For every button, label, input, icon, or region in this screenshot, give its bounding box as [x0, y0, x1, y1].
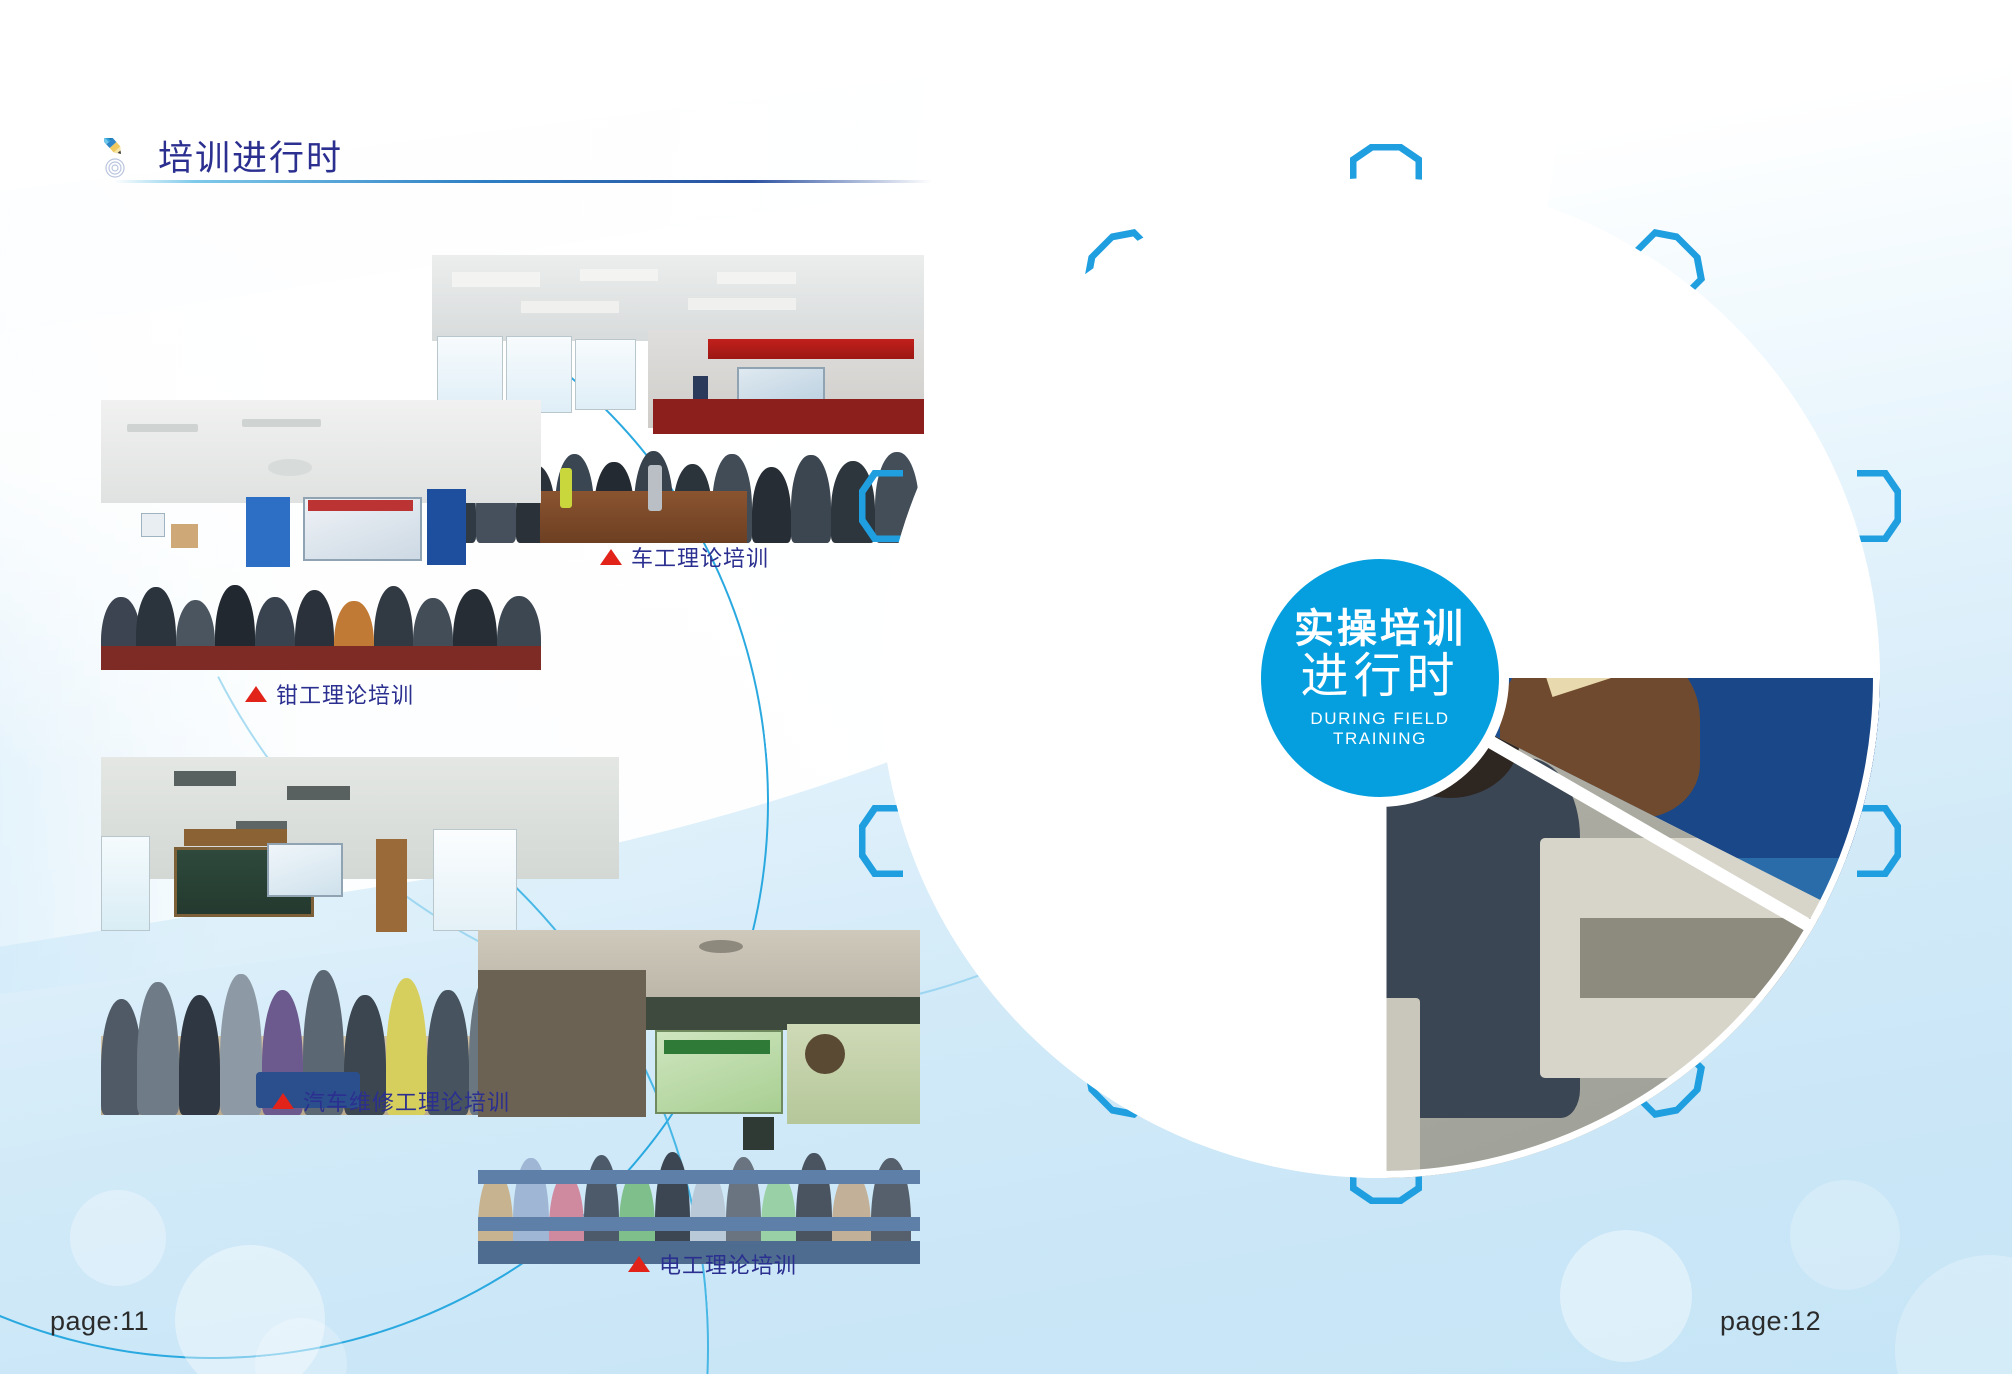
page-number-right: page:12	[1720, 1306, 1821, 1337]
triangle-marker-icon	[600, 549, 622, 565]
caption-auto-repair-theory: 汽车维修工理论培训	[272, 1085, 510, 1117]
caption-text: 电工理论培训	[659, 1248, 797, 1280]
field-training-wheel: 实操培训 进行时 DURING FIELD TRAINING	[880, 178, 1880, 1178]
caption-text: 汽车维修工理论培训	[303, 1085, 510, 1117]
photo-electrician-theory-classroom	[478, 930, 920, 1264]
bracket-icon	[859, 470, 905, 542]
page-number-left: page:11	[50, 1306, 149, 1337]
bracket-icon	[859, 805, 905, 877]
hub-line-3: DURING FIELD TRAINING	[1261, 709, 1499, 749]
triangle-marker-icon	[628, 1256, 650, 1272]
wheel-hub: 实操培训 进行时 DURING FIELD TRAINING	[1251, 549, 1509, 807]
hub-line-2: 进行时	[1300, 650, 1459, 705]
decorative-bubble	[70, 1190, 166, 1286]
caption-text: 钳工理论培训	[276, 678, 414, 710]
caption-electrician-theory: 电工理论培训	[628, 1248, 797, 1280]
photo-fitter-theory-classroom	[101, 400, 541, 670]
pencil-icon	[104, 138, 144, 178]
caption-fitter-theory: 钳工理论培训	[245, 678, 414, 710]
caption-lathe-theory: 车工理论培训	[600, 541, 769, 573]
section-header: 培训进行时	[104, 138, 343, 178]
triangle-marker-icon	[245, 686, 267, 702]
page-title: 培训进行时	[158, 141, 343, 176]
decorative-bubble	[1560, 1230, 1692, 1362]
decorative-bubble	[1790, 1180, 1900, 1290]
brochure-spread: 培训进行时	[0, 0, 2012, 1374]
triangle-marker-icon	[272, 1093, 294, 1109]
caption-text: 车工理论培训	[631, 541, 769, 573]
bracket-icon	[1855, 470, 1901, 542]
hub-line-1: 实操培训	[1294, 607, 1466, 652]
header-rule	[113, 180, 931, 183]
